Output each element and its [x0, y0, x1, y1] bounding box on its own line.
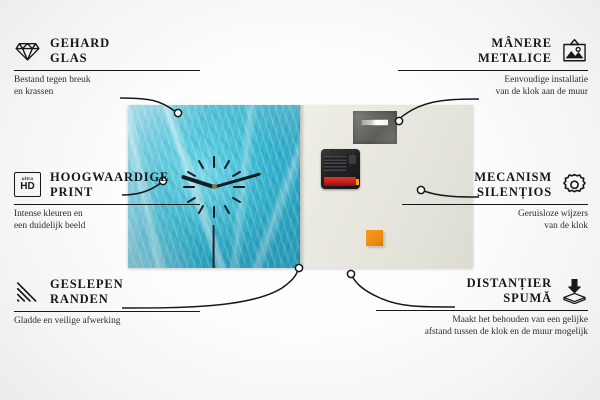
leader-dot-gehard-glas — [174, 109, 181, 116]
feature-manere-metalice[interactable]: MÂNERE METALICE Eenvoudige installatie v… — [398, 36, 588, 99]
feature-distantier-spuma[interactable]: DISTANȚIER SPUMĂ Maakt het behouden van … — [376, 276, 588, 339]
leader-manere-metalice — [398, 99, 479, 120]
infographic-canvas: GEHARD GLAS Bestand tegen breuk en krass… — [0, 0, 600, 400]
feature-rule — [14, 204, 200, 205]
feature-rule — [14, 70, 200, 71]
feature-title: MÂNERE METALICE — [478, 36, 552, 65]
feature-subtitle: Intense kleuren en een duidelijk beeld — [14, 209, 200, 232]
feature-subtitle: Eenvoudige installatie van de klok aan d… — [398, 75, 588, 98]
feature-title: HOOGWAARDIGE PRINT — [50, 170, 169, 199]
feature-rule — [376, 310, 588, 311]
feature-subtitle: Bestand tegen breuk en krassen — [14, 75, 200, 98]
leader-dot-distantier-spuma — [347, 270, 354, 277]
feature-gehard-glas[interactable]: GEHARD GLAS Bestand tegen breuk en krass… — [14, 36, 200, 99]
ultra-hd-icon-main-label: HD — [20, 182, 34, 192]
feature-rule — [402, 204, 588, 205]
leader-dot-manere-metalice — [395, 117, 402, 124]
diamond-icon — [14, 38, 41, 64]
feature-rule — [398, 70, 588, 71]
feature-subtitle: Maakt het behouden van een gelijke afsta… — [376, 315, 588, 338]
hanging-frame-icon — [561, 38, 588, 64]
arrow-down-stack-icon — [561, 278, 588, 304]
leader-dot-geslepen-randen — [295, 264, 302, 271]
ultra-hd-icon: ultra HD — [14, 172, 41, 197]
feature-title: MECANISM SILENȚIOS — [474, 170, 552, 199]
feature-hoogwaardige-print[interactable]: ultra HD HOOGWAARDIGE PRINT Intense kleu… — [14, 170, 200, 233]
feature-subtitle: Geruisloze wijzers van de klok — [402, 209, 588, 232]
gear-icon — [561, 172, 588, 198]
feature-title: GESLEPEN RANDEN — [50, 277, 124, 306]
feature-geslepen-randen[interactable]: GESLEPEN RANDEN Gladde en veilige afwerk… — [14, 277, 200, 328]
feature-subtitle: Gladde en veilige afwerking — [14, 316, 200, 328]
feature-title: GEHARD GLAS — [50, 36, 110, 65]
leader-gehard-glas — [120, 98, 176, 112]
beveled-edges-icon — [14, 279, 41, 305]
feature-rule — [14, 311, 200, 312]
feature-mecanism-silentios[interactable]: MECANISM SILENȚIOS Geruisloze wijzers va… — [402, 170, 588, 233]
feature-title: DISTANȚIER SPUMĂ — [467, 276, 552, 305]
